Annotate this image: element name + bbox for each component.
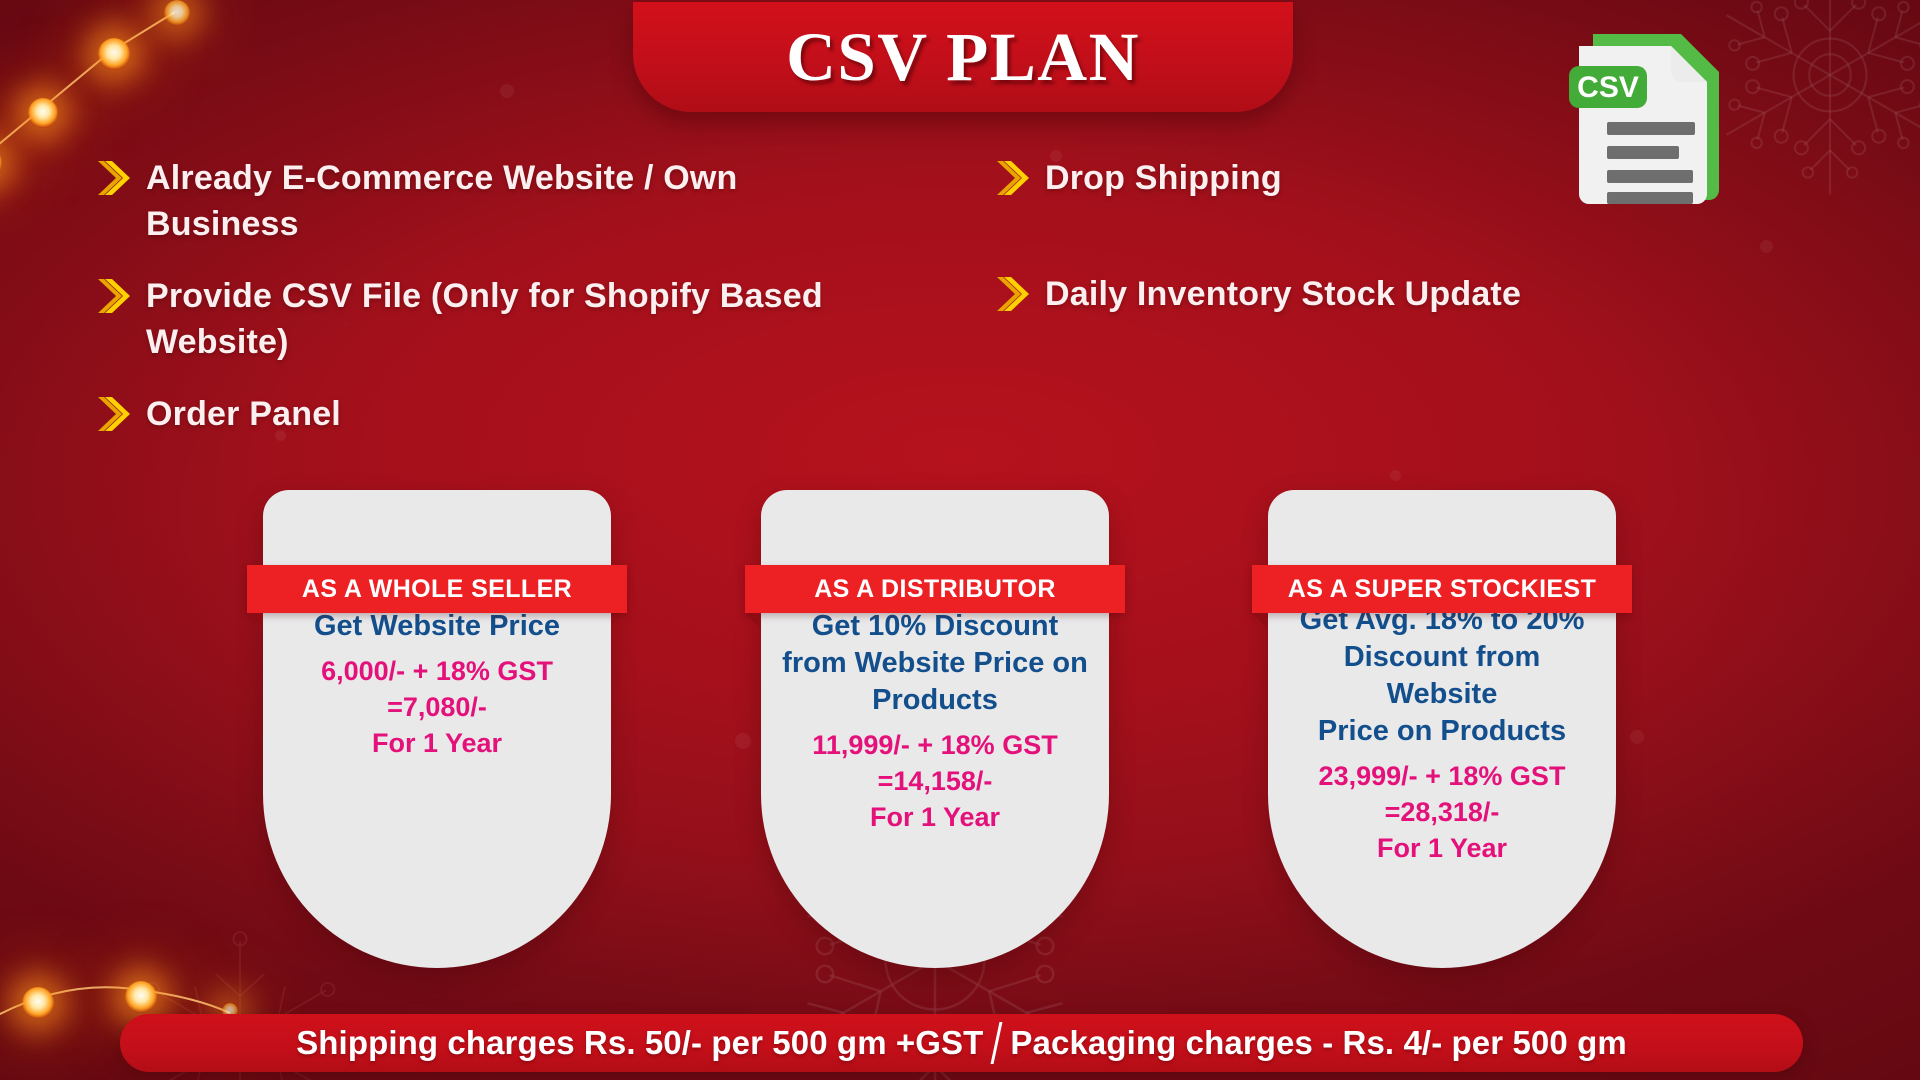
chevron-right-icon bbox=[96, 394, 134, 434]
card-price-line: =14,158/- bbox=[761, 763, 1109, 799]
title-banner: CSV PLAN bbox=[633, 2, 1293, 112]
banner-separator bbox=[991, 1022, 1003, 1064]
card-price-line: =28,318/- bbox=[1268, 794, 1616, 830]
card-ribbon: AS A WHOLE SELLER bbox=[247, 565, 627, 613]
pricing-card: AS A SUPER STOCKIEST Get Avg. 18% to 20%… bbox=[1268, 490, 1616, 968]
card-ribbon-label: AS A DISTRIBUTOR bbox=[814, 575, 1056, 604]
card-price-line: =7,080/- bbox=[263, 689, 611, 725]
feature-label: Already E-Commerce Website / Own Busines… bbox=[146, 155, 896, 247]
chevron-right-icon bbox=[995, 158, 1033, 198]
bottom-banner: Shipping charges Rs. 50/- per 500 gm +GS… bbox=[120, 1014, 1803, 1072]
light-bulb bbox=[28, 98, 58, 128]
card-price-line: For 1 Year bbox=[1268, 830, 1616, 866]
pricing-cards: AS A WHOLE SELLER Get Website Price 6,00… bbox=[0, 490, 1920, 970]
card-heading: Get Avg. 18% to 20% Discount from Websit… bbox=[1268, 602, 1616, 750]
feature-item: Provide CSV File (Only for Shopify Based… bbox=[96, 273, 896, 365]
pricing-card: AS A WHOLE SELLER Get Website Price 6,00… bbox=[263, 490, 611, 968]
feature-item: Daily Inventory Stock Update bbox=[995, 271, 1785, 317]
card-price-line: 6,000/- + 18% GST bbox=[263, 653, 611, 689]
bokeh-dot bbox=[500, 84, 514, 98]
chevron-right-icon bbox=[96, 158, 134, 198]
light-bulb bbox=[22, 987, 54, 1019]
feature-item: Order Panel bbox=[96, 391, 896, 437]
feature-label: Daily Inventory Stock Update bbox=[1045, 271, 1521, 317]
card-ribbon-label: AS A WHOLE SELLER bbox=[302, 575, 572, 604]
card-body: AS A WHOLE SELLER Get Website Price 6,00… bbox=[263, 490, 611, 968]
card-price-line: For 1 Year bbox=[761, 799, 1109, 835]
card-heading: Get 10% Discount from Website Price on P… bbox=[761, 608, 1109, 719]
light-bulb bbox=[125, 981, 157, 1013]
chevron-right-icon bbox=[995, 274, 1033, 314]
banner-right-text: Packaging charges - Rs. 4/- per 500 gm bbox=[1010, 1024, 1626, 1062]
feature-label: Drop Shipping bbox=[1045, 155, 1282, 201]
card-body: AS A DISTRIBUTOR Get 10% Discount from W… bbox=[761, 490, 1109, 968]
csv-badge-label: CSV bbox=[1577, 71, 1639, 104]
pricing-card: AS A DISTRIBUTOR Get 10% Discount from W… bbox=[761, 490, 1109, 968]
light-bulb bbox=[164, 0, 190, 26]
csv-file-icon: CSV bbox=[1563, 20, 1743, 210]
card-ribbon: AS A SUPER STOCKIEST bbox=[1252, 565, 1632, 613]
card-body: AS A SUPER STOCKIEST Get Avg. 18% to 20%… bbox=[1268, 490, 1616, 968]
feature-label: Order Panel bbox=[146, 391, 341, 437]
feature-label: Provide CSV File (Only for Shopify Based… bbox=[146, 273, 896, 365]
string-lights-top bbox=[0, 0, 310, 180]
chevron-right-icon bbox=[96, 276, 134, 316]
page-title: CSV PLAN bbox=[633, 2, 1293, 112]
card-ribbon: AS A DISTRIBUTOR bbox=[745, 565, 1125, 613]
card-price-line: 11,999/- + 18% GST bbox=[761, 727, 1109, 763]
bokeh-dot bbox=[1390, 470, 1401, 481]
feature-item: Already E-Commerce Website / Own Busines… bbox=[96, 155, 896, 247]
light-bulb bbox=[98, 38, 130, 70]
feature-list-left: Already E-Commerce Website / Own Busines… bbox=[96, 155, 896, 463]
card-heading: Get Website Price bbox=[263, 608, 611, 645]
card-ribbon-label: AS A SUPER STOCKIEST bbox=[1288, 575, 1597, 604]
card-price-line: 23,999/- + 18% GST bbox=[1268, 758, 1616, 794]
card-price-line: For 1 Year bbox=[263, 725, 611, 761]
banner-left-text: Shipping charges Rs. 50/- per 500 gm +GS… bbox=[296, 1024, 983, 1062]
